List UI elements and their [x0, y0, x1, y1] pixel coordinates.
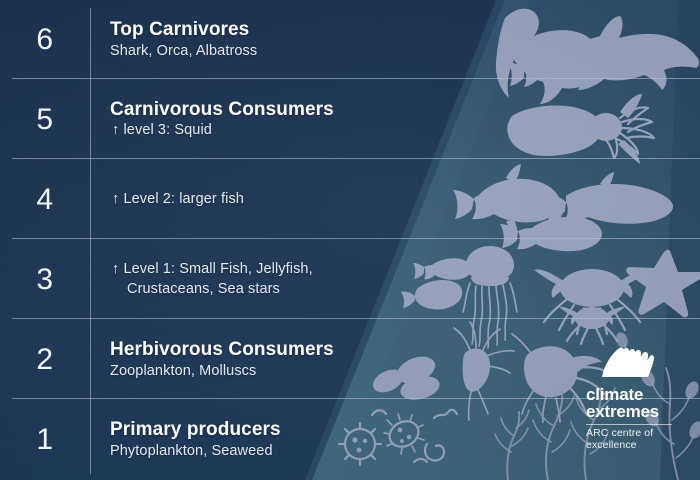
- level-title-2: Herbivorous Consumers: [110, 339, 334, 361]
- level-subtitle-5: ↑ level 3: Squid: [110, 121, 334, 141]
- level-text-4: ↑ Level 2: larger fish: [112, 160, 244, 240]
- level-number-1: 1: [0, 400, 90, 480]
- level-number-2: 2: [0, 320, 90, 400]
- climate-extremes-logo: climate extremes ARC centre of excellenc…: [586, 344, 690, 452]
- level-text-3: ↑ Level 1: Small Fish, Jellyfish, Crusta…: [112, 240, 313, 320]
- level-text-1: Primary producers Phytoplankton, Seaweed: [110, 400, 281, 480]
- row-level-3: 3 ↑ Level 1: Small Fish, Jellyfish, Crus…: [0, 240, 700, 320]
- level-number-6: 6: [0, 0, 90, 80]
- level-subtitle-4: ↑ Level 2: larger fish: [112, 190, 244, 210]
- row-level-6: 6 Top Carnivores Shark, Orca, Albatross: [0, 0, 700, 80]
- level-subtitle-6: Shark, Orca, Albatross: [110, 42, 257, 61]
- level-subtitle-3-line-2: Crustaceans, Sea stars: [112, 280, 313, 300]
- infographic-canvas: 6 Top Carnivores Shark, Orca, Albatross …: [0, 0, 700, 480]
- level-subtitle-1: Phytoplankton, Seaweed: [110, 442, 281, 461]
- level-number-3: 3: [0, 240, 90, 320]
- row-level-4: 4 ↑ Level 2: larger fish: [0, 160, 700, 240]
- logo-sub-line-2: excellence: [586, 440, 690, 452]
- level-text-2: Herbivorous Consumers Zooplankton, Mollu…: [110, 320, 334, 400]
- logo-divider: [586, 424, 672, 425]
- row-level-5: 5 Carnivorous Consumers ↑ level 3: Squid: [0, 80, 700, 160]
- fan-shell-icon: [596, 344, 656, 380]
- level-text-5: Carnivorous Consumers ↑ level 3: Squid: [110, 80, 334, 160]
- level-subtitle-2: Zooplankton, Molluscs: [110, 362, 334, 381]
- logo-line-climate: climate: [586, 387, 690, 403]
- logo-line-extremes: extremes: [586, 403, 690, 420]
- level-number-5: 5: [0, 80, 90, 160]
- level-subtitle-3-line-1: ↑ Level 1: Small Fish, Jellyfish,: [112, 260, 313, 280]
- logo-wordmark: climate extremes ARC centre of excellenc…: [586, 387, 690, 452]
- level-title-6: Top Carnivores: [110, 19, 257, 41]
- level-text-6: Top Carnivores Shark, Orca, Albatross: [110, 0, 257, 80]
- level-title-5: Carnivorous Consumers: [110, 99, 334, 121]
- level-number-4: 4: [0, 160, 90, 240]
- level-title-1: Primary producers: [110, 419, 281, 441]
